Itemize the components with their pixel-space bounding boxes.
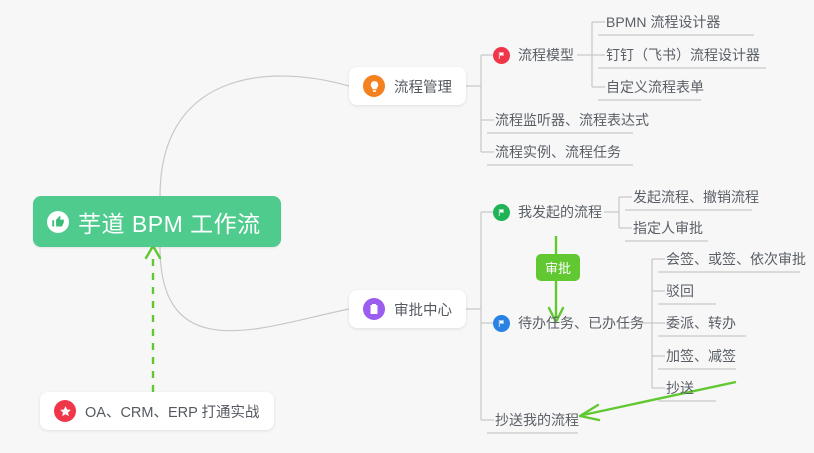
node-countersign[interactable]: 会签、或签、依次审批 bbox=[664, 244, 806, 274]
node-todo-done-tasks[interactable]: 待办任务、已办任务 bbox=[491, 308, 644, 338]
thumbs-up-icon bbox=[47, 211, 69, 233]
mindmap-canvas: 芋道 BPM 工作流 流程管理 流程模型 BPMN 流程设计器 钉钉（飞书）流程… bbox=[0, 0, 814, 453]
flag-icon-blue bbox=[493, 315, 510, 332]
star-icon bbox=[54, 400, 76, 422]
node-label: 流程实例、流程任务 bbox=[495, 142, 621, 162]
node-label: 会签、或签、依次审批 bbox=[666, 249, 806, 269]
node-label: 钉钉（飞书）流程设计器 bbox=[606, 45, 760, 65]
edge-root-to-approval-center bbox=[160, 247, 349, 331]
flag-icon-red bbox=[493, 47, 510, 64]
node-label: 发起流程、撤销流程 bbox=[633, 187, 759, 207]
node-bpmn-designer[interactable]: BPMN 流程设计器 bbox=[604, 7, 720, 37]
badge-label: 审批 bbox=[545, 258, 571, 277]
node-label: 驳回 bbox=[666, 281, 694, 301]
node-carbon-copy[interactable]: 抄送 bbox=[664, 373, 694, 403]
node-label: 待办任务、已办任务 bbox=[518, 313, 644, 333]
flag-icon-green bbox=[493, 204, 510, 221]
node-assignee-approval[interactable]: 指定人审批 bbox=[631, 213, 703, 243]
node-label: 流程模型 bbox=[518, 45, 574, 65]
node-label: 加签、减签 bbox=[666, 346, 736, 366]
node-label: 抄送 bbox=[666, 378, 694, 398]
root-label: 芋道 BPM 工作流 bbox=[78, 205, 261, 239]
node-add-remove-sign[interactable]: 加签、减签 bbox=[664, 341, 736, 371]
node-label: 自定义流程表单 bbox=[606, 77, 704, 97]
node-process-model[interactable]: 流程模型 bbox=[491, 40, 574, 70]
node-dingtalk-designer[interactable]: 钉钉（飞书）流程设计器 bbox=[604, 40, 760, 70]
node-reject[interactable]: 驳回 bbox=[664, 276, 694, 306]
node-label: 委派、转办 bbox=[666, 313, 736, 333]
node-process-listener[interactable]: 流程监听器、流程表达式 bbox=[493, 105, 649, 135]
node-process-instance[interactable]: 流程实例、流程任务 bbox=[493, 137, 621, 167]
node-label: 抄送我的流程 bbox=[495, 410, 579, 430]
node-custom-form[interactable]: 自定义流程表单 bbox=[604, 72, 704, 102]
clipboard-icon bbox=[363, 298, 385, 320]
node-label: 指定人审批 bbox=[633, 218, 703, 238]
node-my-started-process[interactable]: 我发起的流程 bbox=[491, 197, 602, 227]
node-label: 流程管理 bbox=[394, 76, 452, 97]
node-delegate-transfer[interactable]: 委派、转办 bbox=[664, 308, 736, 338]
edge-root-to-process-management bbox=[160, 76, 349, 196]
node-approval-center[interactable]: 审批中心 bbox=[349, 290, 466, 328]
root-node[interactable]: 芋道 BPM 工作流 bbox=[33, 196, 281, 247]
node-label: 审批中心 bbox=[394, 299, 452, 320]
node-cc-my-process[interactable]: 抄送我的流程 bbox=[493, 405, 579, 435]
node-label: 我发起的流程 bbox=[518, 202, 602, 222]
node-label: BPMN 流程设计器 bbox=[606, 12, 720, 32]
annotation-arrow-cc bbox=[580, 382, 736, 420]
node-process-management[interactable]: 流程管理 bbox=[349, 67, 466, 105]
lightbulb-icon bbox=[363, 75, 385, 97]
node-label: OA、CRM、ERP 打通实战 bbox=[85, 401, 260, 422]
node-integration-note[interactable]: OA、CRM、ERP 打通实战 bbox=[40, 392, 274, 430]
annotation-badge-approval: 审批 bbox=[536, 254, 580, 281]
node-launch-cancel-process[interactable]: 发起流程、撤销流程 bbox=[631, 182, 759, 212]
node-label: 流程监听器、流程表达式 bbox=[495, 110, 649, 130]
annotation-arrow-integration bbox=[146, 246, 160, 392]
